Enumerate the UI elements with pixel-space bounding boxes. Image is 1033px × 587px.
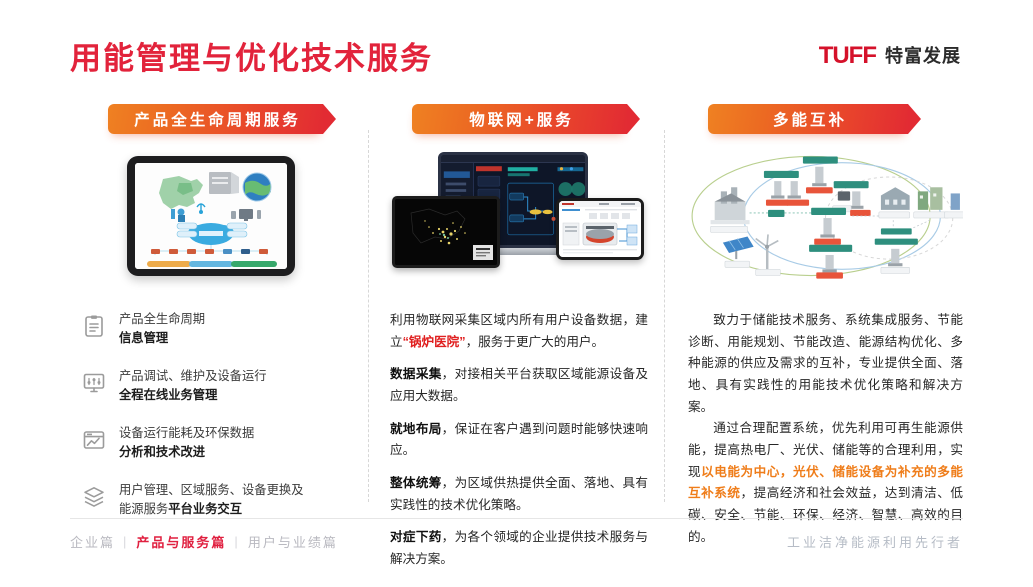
footer-divider	[70, 518, 963, 519]
paragraph: 数据采集，对接相关平台获取区域能源设备及应用大数据。	[390, 364, 648, 407]
cloud-service-diagram-icon	[135, 163, 287, 269]
multi-energy-body-copy: 致力于储能技术服务、系统集成服务、节能诊断、用能规划、节能改造、能源结构优化、多…	[688, 310, 963, 548]
column-product-lifecycle: 产品全生命周期服务	[70, 104, 370, 510]
clipboard-icon	[82, 314, 106, 338]
wind-turbine-icon	[756, 234, 781, 275]
tablet-illustration	[70, 148, 352, 284]
night-lights-map-icon	[395, 199, 497, 265]
tab-product-lifecycle[interactable]: 产品全生命周期服务	[108, 104, 323, 134]
power-plant-icon	[711, 187, 750, 232]
feature-text: 用户管理、区域服务、设备更换及 能源服务平台业务交互	[119, 481, 303, 519]
tablet-device	[127, 156, 295, 276]
feature-line-1: 用户管理、区域服务、设备更换及	[119, 483, 303, 497]
feature-line-2: 平台业务交互	[168, 502, 242, 516]
chart-window-icon	[82, 428, 106, 452]
paragraph: 致力于储能技术服务、系统集成服务、节能诊断、用能规划、节能改造、能源结构优化、多…	[688, 310, 963, 418]
tablet-screen	[135, 163, 287, 269]
feature-line-1: 产品调试、维护及设备运行	[119, 369, 267, 383]
brand-logo: TUFF 特富发展	[819, 44, 961, 68]
solar-panel-icon	[723, 237, 754, 268]
paragraph: 整体统筹，为区域供热提供全面、落地、具有实践性的技术优化策略。	[390, 473, 648, 516]
highlight-boiler-hospital: “锅炉医院”	[403, 335, 466, 349]
page-title: 用能管理与优化技术服务	[70, 40, 433, 77]
para-post: ，服务于更广大的用户。	[466, 335, 605, 349]
feature-item: 产品全生命周期 信息管理	[82, 310, 352, 348]
logo-mark-text: TUFF	[819, 44, 876, 68]
breadcrumb-item-products-services[interactable]: 产品与服务篇	[136, 532, 226, 551]
phone-device	[556, 198, 644, 260]
monitor-settings-icon	[82, 371, 106, 395]
feature-line-2: 全程在线业务管理	[119, 388, 217, 402]
devices-illustration	[390, 148, 648, 284]
column-iot-service: 物联网+服务	[370, 104, 666, 510]
breadcrumb-item-customers-performance[interactable]: 用户与业绩篇	[248, 532, 338, 551]
tab-multi-energy[interactable]: 多能互补	[708, 104, 908, 134]
feature-item: 产品调试、维护及设备运行 全程在线业务管理	[82, 367, 352, 405]
feature-line-2: 信息管理	[119, 331, 168, 345]
para-lead: 整体统筹	[390, 476, 442, 490]
breadcrumb-item-enterprise[interactable]: 企业篇	[70, 532, 115, 551]
energy-device-group	[764, 171, 809, 206]
footer-tagline: 工业洁净能源利用先行者	[787, 532, 963, 551]
para-lead: 数据采集	[390, 367, 442, 381]
boiler-schematic-icon	[559, 201, 641, 257]
energy-network-illustration	[688, 148, 963, 284]
layers-icon	[82, 485, 106, 509]
breadcrumb: 企业篇 | 产品与服务篇 | 用户与业绩篇	[70, 532, 338, 551]
feature-text: 产品全生命周期 信息管理	[119, 310, 205, 348]
column-multi-energy: 多能互补	[666, 104, 963, 510]
footer: 企业篇 | 产品与服务篇 | 用户与业绩篇 工业洁净能源利用先行者	[70, 532, 963, 551]
feature-text: 设备运行能耗及环保数据 分析和技术改进	[119, 424, 254, 462]
slide-root: 用能管理与优化技术服务 TUFF 特富发展 产品全生命周期服务	[0, 0, 1033, 587]
tab-iot-service[interactable]: 物联网+服务	[412, 104, 627, 134]
feature-line-1: 设备运行能耗及环保数据	[119, 426, 254, 440]
laptop-camera-bar	[441, 155, 585, 163]
tablet-map-device	[392, 196, 500, 268]
feature-line-2-prefix: 能源服务	[119, 502, 168, 516]
tab-label: 多能互补	[773, 108, 847, 130]
feature-text: 产品调试、维护及设备运行 全程在线业务管理	[119, 367, 267, 405]
columns-container: 产品全生命周期服务	[70, 104, 963, 510]
para-text: 致力于储能技术服务、系统集成服务、节能诊断、用能规划、节能改造、能源结构优化、多…	[688, 313, 963, 414]
para-lead: 就地布局	[390, 422, 442, 436]
logo-chinese-name: 特富发展	[885, 47, 961, 65]
feature-line-1: 产品全生命周期	[119, 312, 205, 326]
paragraph: 通过合理配置系统，优先利用可再生能源供能，提高热电厂、光伏、储能等的合理利用，实…	[688, 418, 963, 548]
tab-label: 产品全生命周期服务	[134, 108, 301, 130]
multi-energy-network-icon	[688, 148, 963, 284]
feature-line-2: 分析和技术改进	[119, 445, 205, 459]
feature-item: 设备运行能耗及环保数据 分析和技术改进	[82, 424, 352, 462]
feature-list: 产品全生命周期 信息管理	[70, 310, 352, 519]
buildings-group	[879, 187, 963, 218]
feature-item: 用户管理、区域服务、设备更换及 能源服务平台业务交互	[82, 481, 352, 519]
paragraph: 就地布局，保证在客户遇到问题时能够快速响应。	[390, 419, 648, 462]
breadcrumb-separator: |	[123, 534, 128, 549]
paragraph: 利用物联网采集区域内所有用户设备数据，建立“锅炉医院”，服务于更广大的用户。	[390, 310, 648, 353]
breadcrumb-separator: |	[234, 534, 239, 549]
tab-label: 物联网+服务	[469, 108, 574, 130]
